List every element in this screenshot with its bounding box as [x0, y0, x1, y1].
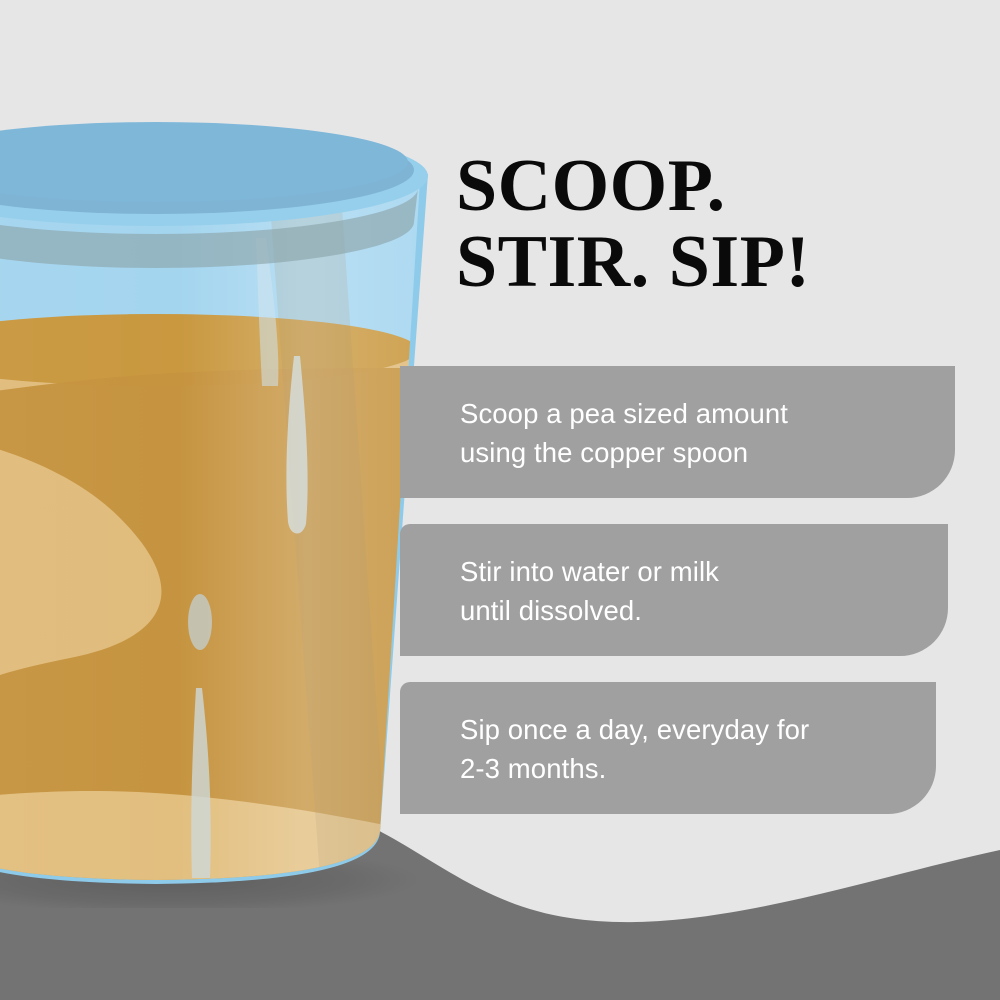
- step-scoop-line-2: using the copper spoon: [460, 433, 915, 472]
- headline-line-2: STIR. SIP!: [456, 224, 976, 300]
- step-card-scoop[interactable]: Scoop a pea sized amount using the coppe…: [400, 366, 955, 498]
- step-sip-line-2: 2-3 months.: [460, 749, 896, 788]
- step-sip-line-1: Sip once a day, everyday for: [460, 710, 896, 749]
- step-stir-line-2: until dissolved.: [460, 591, 908, 630]
- steps-list: Scoop a pea sized amount using the coppe…: [400, 366, 1000, 840]
- step-card-sip[interactable]: Sip once a day, everyday for 2-3 months.: [400, 682, 936, 814]
- highlight-dot: [188, 594, 212, 650]
- poster-canvas: SCOOP. STIR. SIP! Scoop a pea sized amou…: [0, 0, 1000, 1000]
- glass-svg: [0, 118, 430, 908]
- glass-illustration: [0, 118, 430, 908]
- step-stir-line-1: Stir into water or milk: [460, 552, 908, 591]
- step-card-stir[interactable]: Stir into water or milk until dissolved.: [400, 524, 948, 656]
- page-title: SCOOP. STIR. SIP!: [456, 148, 976, 300]
- headline-line-1: SCOOP.: [456, 148, 976, 224]
- step-scoop-line-1: Scoop a pea sized amount: [460, 394, 915, 433]
